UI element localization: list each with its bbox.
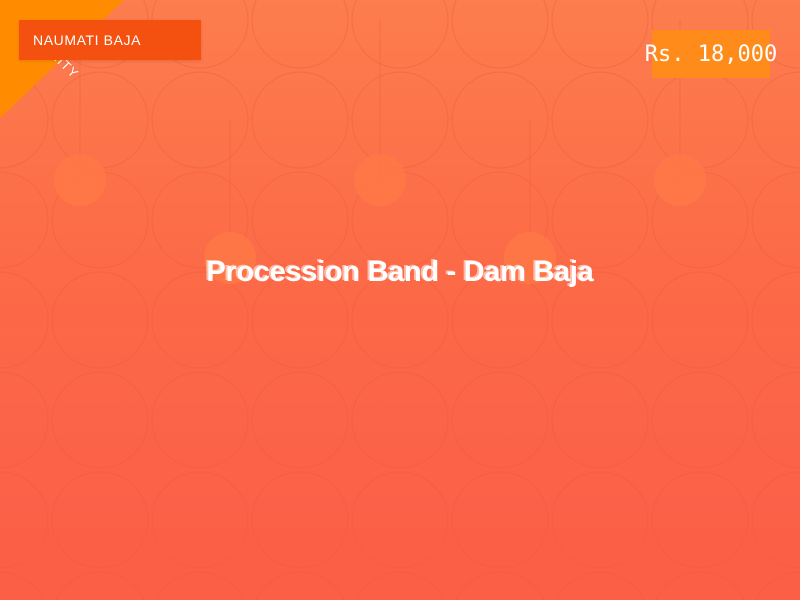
pattern-circle-outline (252, 472, 348, 568)
pattern-pendant-circle (54, 154, 106, 206)
pattern-circle-outline (552, 372, 648, 468)
pattern-circle-outline (452, 372, 548, 468)
pattern-circle-outline (252, 372, 348, 468)
pattern-circle-outline (552, 0, 648, 68)
pattern-circle-outline (652, 472, 748, 568)
pattern-circle-outline (52, 472, 148, 568)
pattern-circle-outline (452, 72, 548, 168)
pattern-circle-outline (0, 572, 48, 600)
pattern-circle-outline (52, 372, 148, 468)
pattern-circle-outline (352, 372, 448, 468)
pattern-circle-outline (152, 472, 248, 568)
pattern-circle-outline (352, 72, 448, 168)
pattern-circle-outline (352, 0, 448, 68)
pattern-circle-outline (552, 572, 648, 600)
pattern-circle-outline (252, 72, 348, 168)
pattern-circle-outline (652, 572, 748, 600)
pattern-circle-outline (452, 0, 548, 68)
pattern-pendant-circle (654, 154, 706, 206)
pattern-pendant-circle (354, 154, 406, 206)
pattern-circle-outline (752, 572, 800, 600)
product-title: Procession Band - Dam Baja (206, 256, 593, 288)
pattern-circle-outline (252, 572, 348, 600)
pattern-circle-outline (652, 372, 748, 468)
pattern-circle-outline (152, 72, 248, 168)
brand-name-label: NAUMATI BAJA (19, 32, 141, 48)
pattern-circle-outline (452, 472, 548, 568)
pattern-circle-outline (252, 0, 348, 68)
pattern-circle-outline (752, 372, 800, 468)
product-title-block: Procession Band - Dam Baja Procession Ba… (0, 248, 800, 296)
price-badge: Rs. 18,000 (652, 30, 770, 78)
pattern-circle-outline (0, 472, 48, 568)
product-card: QUALITY NAUMATI BAJA Rs. 18,000 Processi… (0, 0, 800, 600)
pattern-circle-outline (52, 572, 148, 600)
pattern-circle-outline (152, 572, 248, 600)
pattern-circle-outline (752, 472, 800, 568)
pattern-circle-outline (352, 572, 448, 600)
pattern-circle-outline (752, 72, 800, 168)
pattern-circle-outline (552, 472, 648, 568)
title-stack: Procession Band - Dam Baja Procession Ba… (206, 252, 593, 292)
pattern-circle-outline (652, 72, 748, 168)
brand-bar: NAUMATI BAJA (19, 20, 201, 60)
pattern-circle-outline (552, 72, 648, 168)
pattern-circle-outline (0, 372, 48, 468)
price-label: Rs. 18,000 (645, 42, 777, 67)
pattern-circle-outline (352, 472, 448, 568)
pattern-circle-outline (152, 372, 248, 468)
pattern-circle-outline (452, 572, 548, 600)
